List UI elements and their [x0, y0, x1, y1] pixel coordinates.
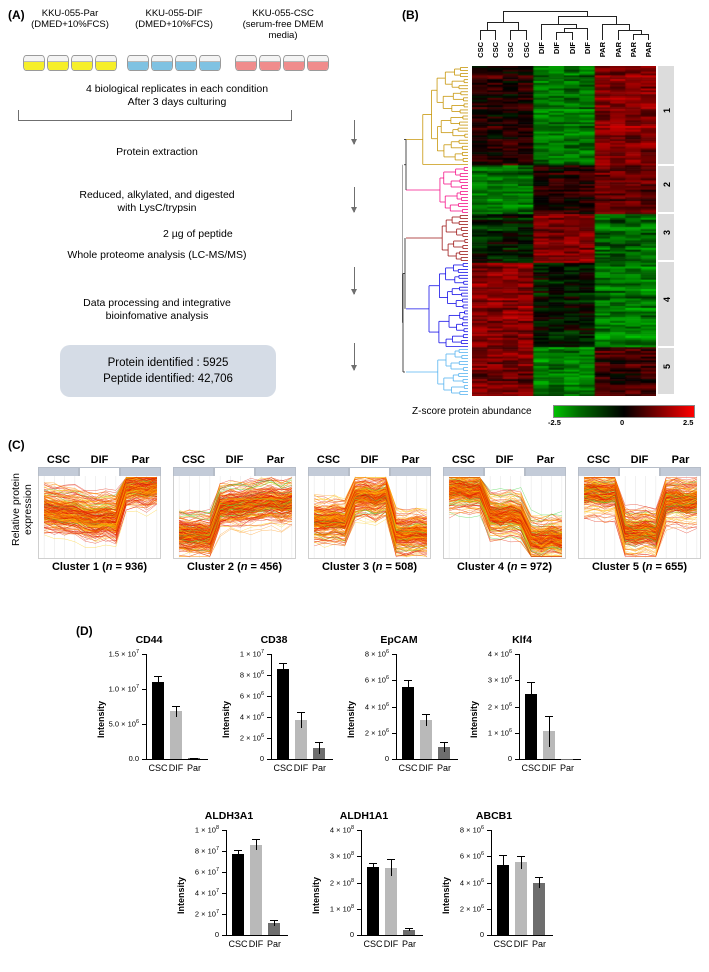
chart-plot-area: Intensity02 × 1064 × 1066 × 1068 × 106CS… — [435, 824, 553, 964]
y-tick — [142, 689, 146, 690]
cluster-bands: 12345 — [658, 66, 680, 396]
error-bar — [319, 742, 320, 755]
y-tick — [515, 759, 519, 760]
chart-ylabel: Intensity — [221, 676, 231, 738]
x-tick-label-par: Par — [434, 763, 454, 773]
panel-c-ylabel-line2: expression — [22, 485, 34, 536]
y-tick — [222, 893, 226, 894]
bar-dif — [515, 862, 527, 935]
cluster-caption-prefix: Cluster 2 ( — [187, 561, 241, 573]
group-label-csc: CSC — [443, 454, 484, 466]
x-axis — [361, 935, 423, 936]
y-tick-label: 2 × 106 — [340, 728, 389, 738]
cluster-number-4: 4 — [662, 297, 672, 302]
y-tick — [142, 759, 146, 760]
group-label-par: Par — [660, 454, 701, 466]
error-bar-cap — [535, 877, 543, 878]
dish-icon — [47, 55, 69, 71]
cluster-group-header: CSCDIFPar — [443, 454, 566, 466]
y-tick-label: 2 × 107 — [170, 909, 219, 919]
y-tick — [392, 733, 396, 734]
arrow-to-extraction — [354, 120, 355, 144]
heatmap-column-label-par-9: PAR — [598, 42, 607, 57]
step-replicates: 4 biological replicates in each conditio… — [12, 83, 342, 109]
y-tick-label: 4 × 106 — [215, 712, 264, 722]
cluster-number-2: 2 — [662, 182, 672, 187]
dendrogram-segment — [572, 32, 573, 40]
y-tick — [487, 935, 491, 936]
y-tick-label: 0 — [435, 930, 484, 939]
condition-par-label: KKU-055-Par (DMED+10%FCS) — [18, 8, 122, 30]
color-scale-bar — [553, 405, 695, 418]
error-bar-cap — [545, 716, 553, 717]
dendrogram-segment — [602, 24, 629, 25]
heatmap-column-label-dif-5: DIF — [537, 42, 546, 54]
y-tick — [222, 914, 226, 915]
error-bar — [549, 716, 550, 746]
column-dendrogram — [398, 6, 709, 42]
cluster-number-1: 1 — [662, 108, 672, 113]
dish-icon — [71, 55, 93, 71]
cluster-group-header: CSCDIFPar — [38, 454, 161, 466]
y-tick-label: 2 × 108 — [305, 878, 354, 888]
dish-icon — [307, 55, 329, 71]
cluster-profile-1: CSCDIFParCluster 1 (n = 936) — [38, 454, 161, 573]
heatmap-column-label-dif-6: DIF — [552, 42, 561, 54]
y-tick-label: 1 × 107 — [215, 649, 264, 659]
cluster-caption-suffix: ) — [278, 561, 282, 573]
group-label-dif: DIF — [484, 454, 525, 466]
error-bar-cap — [422, 714, 430, 715]
step-digestion-line1: Reduced, alkylated, and digested — [12, 189, 302, 202]
bar-chart-cd44: CD44Intensity0.05.0 × 1061.0 × 1071.5 × … — [90, 634, 208, 794]
error-bar-cap — [279, 663, 287, 664]
cluster-caption-suffix: ) — [548, 561, 552, 573]
cluster-caption: Cluster 5 (n = 655) — [578, 561, 701, 573]
cluster-group-header: CSCDIFPar — [578, 454, 701, 466]
dish-icon — [127, 55, 149, 71]
step-data-processing-line2: bioinfomative analysis — [12, 310, 302, 323]
panel-c-letter: (C) — [8, 438, 25, 452]
group-label-csc: CSC — [308, 454, 349, 466]
x-tick-label-dif: DIF — [511, 939, 531, 949]
heatmap-column-label-par-10: PAR — [614, 42, 623, 57]
x-axis — [226, 935, 288, 936]
chart-title: Klf4 — [463, 634, 581, 648]
x-axis — [396, 759, 458, 760]
y-tick-label: 6 × 106 — [435, 851, 484, 861]
step-data-processing-line1: Data processing and integrative — [12, 297, 302, 310]
y-tick-label: 4 × 108 — [305, 825, 354, 835]
error-bar-cap — [499, 855, 507, 856]
dendrogram-segment — [480, 30, 495, 31]
cluster-caption: Cluster 3 (n = 508) — [308, 561, 431, 573]
x-tick-label-csc: CSC — [521, 763, 541, 773]
y-tick — [222, 872, 226, 873]
dendrogram-segment — [556, 32, 571, 33]
group-label-csc: CSC — [38, 454, 79, 466]
x-axis — [491, 935, 553, 936]
dish-icon — [259, 55, 281, 71]
step-peptide-amount: 2 µg of peptide — [163, 228, 233, 240]
cluster-caption-prefix: Cluster 5 ( — [592, 561, 646, 573]
y-tick — [392, 759, 396, 760]
y-tick — [267, 654, 271, 655]
panel-b-heatmap: (B) CSCCSCCSCCSCDIFDIFDIFDIFPARPARPARPAR… — [398, 0, 709, 450]
chart-plot-area: Intensity01 × 1062 × 1063 × 1064 × 106CS… — [463, 648, 581, 788]
condition-par-name: KKU-055-Par — [18, 8, 122, 19]
error-bar — [426, 714, 427, 726]
bar-chart-aldh3a1: ALDH3A1Intensity02 × 1074 × 1076 × 1078 … — [170, 810, 288, 970]
bar-dif — [385, 868, 397, 935]
y-tick — [357, 883, 361, 884]
cluster-profile-3: CSCDIFParCluster 3 (n = 508) — [308, 454, 431, 573]
y-tick-label: 8 × 106 — [435, 825, 484, 835]
x-tick-label-par: Par — [557, 763, 577, 773]
y-tick-label: 6 × 106 — [340, 675, 389, 685]
chart-plot-area: Intensity01 × 1082 × 1083 × 1084 × 108CS… — [305, 824, 423, 964]
chart-plot-area: Intensity02 × 1074 × 1076 × 1078 × 1071 … — [170, 824, 288, 964]
x-tick-label-dif: DIF — [166, 763, 186, 773]
y-tick-label: 1 × 108 — [305, 904, 354, 914]
bar-csc — [277, 669, 289, 759]
arrow-to-digest — [354, 187, 355, 212]
error-bar — [373, 863, 374, 871]
group-label-par: Par — [120, 454, 161, 466]
x-tick-label-dif: DIF — [246, 939, 266, 949]
panel-c-ylabel: Relative protein expression — [10, 456, 40, 564]
condition-dif-name: KKU-055-DIF — [122, 8, 226, 19]
step-protein-extraction: Protein extraction — [12, 146, 302, 159]
heatmap-column-label-csc-1: CSC — [476, 42, 485, 58]
profile-plot-canvas — [443, 476, 566, 559]
group-color-bar — [173, 467, 296, 476]
x-tick-label-dif: DIF — [381, 939, 401, 949]
y-tick — [142, 724, 146, 725]
y-tick — [515, 680, 519, 681]
dendrogram-segment — [518, 22, 519, 30]
heatmap-column-label-par-12: PAR — [644, 42, 653, 57]
y-tick-label: 4 × 107 — [170, 888, 219, 898]
error-bar — [256, 839, 257, 850]
x-axis — [519, 759, 581, 760]
workflow-brace — [18, 110, 292, 121]
legend-tick-min: -2.5 — [548, 418, 561, 427]
bar-csc — [152, 682, 164, 759]
cluster-caption-mid: = — [652, 561, 665, 573]
condition-csc-label: KKU-055-CSC (serum-free DMEM media) — [228, 8, 338, 41]
cluster-profile-4: CSCDIFParCluster 4 (n = 972) — [443, 454, 566, 573]
error-bar — [238, 850, 239, 857]
y-tick-label: 8 × 106 — [215, 670, 264, 680]
x-tick-label-dif: DIF — [416, 763, 436, 773]
y-tick-label: 8 × 106 — [340, 649, 389, 659]
chart-ylabel: Intensity — [176, 852, 186, 914]
chart-title: CD38 — [215, 634, 333, 648]
cluster-number-3: 3 — [662, 230, 672, 235]
x-tick-label-par: Par — [184, 763, 204, 773]
y-tick — [222, 935, 226, 936]
dish-icon — [95, 55, 117, 71]
dendrogram-segment — [641, 30, 642, 34]
error-bar-cap — [154, 676, 162, 677]
arrow-to-dataproc — [354, 343, 355, 370]
condition-par-media: (DMED+10%FCS) — [18, 19, 122, 30]
cluster-caption-mid: = — [382, 561, 395, 573]
error-bar — [301, 712, 302, 728]
bar-csc — [402, 687, 414, 759]
bar-chart-klf4: Klf4Intensity01 × 1062 × 1063 × 1064 × 1… — [463, 634, 581, 794]
profile-plot-canvas — [308, 476, 431, 559]
group-color-bar — [443, 467, 566, 476]
dendrogram-segment — [556, 32, 557, 40]
group-label-csc: CSC — [578, 454, 619, 466]
x-tick-label-csc: CSC — [363, 939, 383, 949]
error-bar-cap — [369, 863, 377, 864]
step-data-processing: Data processing and integrative bioinfom… — [12, 297, 302, 323]
cluster-caption-mid: = — [517, 561, 530, 573]
y-tick-label: 3 × 106 — [463, 675, 512, 685]
profile-plot-canvas — [173, 476, 296, 559]
peptide-identified-count: Peptide identified: 42,706 — [74, 371, 262, 387]
y-tick-label: 1 × 106 — [463, 728, 512, 738]
cluster-band-5 — [658, 348, 674, 394]
error-bar-cap — [405, 928, 413, 929]
y-axis — [519, 654, 520, 759]
error-bar-cap — [387, 859, 395, 860]
y-tick — [392, 707, 396, 708]
y-tick-label: 3 × 108 — [305, 851, 354, 861]
y-axis — [491, 830, 492, 935]
cluster-caption: Cluster 2 (n = 456) — [173, 561, 296, 573]
error-bar-cap — [172, 706, 180, 707]
cluster-caption-suffix: ) — [143, 561, 147, 573]
bar-chart-aldh1a1: ALDH1A1Intensity01 × 1082 × 1083 × 1084 … — [305, 810, 423, 970]
bar-dif — [250, 845, 262, 935]
dendrogram-segment — [541, 24, 576, 25]
legend-tick-max: 2.5 — [683, 418, 693, 427]
dendrogram-segment — [558, 16, 616, 17]
y-tick — [267, 696, 271, 697]
condition-dif-label: KKU-055-DIF (DMED+10%FCS) — [122, 8, 226, 30]
protein-identified-count: Protein identified : 5925 — [74, 355, 262, 371]
dendrogram-segment — [618, 30, 619, 40]
y-tick — [392, 680, 396, 681]
x-tick-label-csc: CSC — [493, 939, 513, 949]
cluster-group-header: CSCDIFPar — [308, 454, 431, 466]
y-tick — [267, 717, 271, 718]
error-bar-cap — [252, 839, 260, 840]
error-bar-cap — [315, 742, 323, 743]
y-tick-label: 5.0 × 106 — [90, 719, 139, 729]
group-color-bar — [38, 467, 161, 476]
error-bar-cap — [527, 682, 535, 683]
culture-dishes-par — [18, 55, 122, 71]
error-bar — [391, 859, 392, 876]
y-tick — [357, 830, 361, 831]
y-tick-label: 2 × 106 — [463, 702, 512, 712]
dish-icon — [235, 55, 257, 71]
y-tick-label: 1 × 108 — [170, 825, 219, 835]
y-tick-label: 6 × 106 — [215, 691, 264, 701]
error-bar — [539, 877, 540, 889]
cluster-caption-prefix: Cluster 1 ( — [52, 561, 106, 573]
y-tick — [392, 654, 396, 655]
y-tick — [487, 856, 491, 857]
y-tick — [487, 830, 491, 831]
cluster-caption-suffix: ) — [683, 561, 687, 573]
y-axis — [396, 654, 397, 759]
error-bar — [283, 663, 284, 675]
dish-icon — [23, 55, 45, 71]
y-axis — [361, 830, 362, 935]
legend-tick-mid: 0 — [620, 418, 624, 427]
error-bar-cap — [234, 850, 242, 851]
dendrogram-segment — [564, 28, 587, 29]
profile-plot-canvas — [38, 476, 161, 559]
step-replicates-line1: 4 biological replicates in each conditio… — [12, 83, 342, 96]
dendrogram-segment — [503, 11, 504, 22]
x-tick-label-csc: CSC — [273, 763, 293, 773]
cluster-caption-value: 936 — [125, 561, 143, 573]
panel-a-workflow: (A) KKU-055-Par (DMED+10%FCS) KKU-055-DI… — [0, 0, 400, 430]
error-bar-cap — [440, 742, 448, 743]
group-label-dif: DIF — [214, 454, 255, 466]
y-tick-label: 1.5 × 107 — [90, 649, 139, 659]
dish-icon — [199, 55, 221, 71]
y-tick — [222, 851, 226, 852]
chart-title: ALDH3A1 — [170, 810, 288, 824]
group-color-bar — [308, 467, 431, 476]
dendrogram-segment — [587, 11, 588, 16]
group-label-dif: DIF — [79, 454, 120, 466]
bar-csc — [367, 867, 379, 935]
y-axis — [146, 654, 147, 759]
dendrogram-segment — [558, 16, 559, 24]
cluster-profile-5: CSCDIFParCluster 5 (n = 655) — [578, 454, 701, 573]
condition-csc-media: (serum-free DMEM media) — [228, 19, 338, 41]
y-tick — [487, 909, 491, 910]
cluster-caption-value: 972 — [530, 561, 548, 573]
cluster-caption-prefix: Cluster 4 ( — [457, 561, 511, 573]
y-tick-label: 0 — [463, 754, 512, 763]
condition-csc-name: KKU-055-CSC — [228, 8, 338, 19]
error-bar — [521, 856, 522, 869]
error-bar-cap — [190, 758, 198, 759]
cluster-caption-suffix: ) — [413, 561, 417, 573]
panel-c-cluster-profiles: (C) Relative protein expression CSCDIFPa… — [0, 436, 709, 596]
panel-d-barcharts: (D) CD44Intensity0.05.0 × 1061.0 × 1071.… — [0, 620, 709, 972]
error-bar — [408, 680, 409, 693]
y-tick — [267, 675, 271, 676]
dish-icon — [175, 55, 197, 71]
cluster-caption-value: 456 — [260, 561, 278, 573]
chart-title: ALDH1A1 — [305, 810, 423, 824]
bar-csc — [232, 854, 244, 935]
dendrogram-segment — [587, 28, 588, 40]
y-tick-label: 6 × 107 — [170, 867, 219, 877]
y-tick — [267, 759, 271, 760]
step-digestion: Reduced, alkylated, and digested with Ly… — [12, 189, 302, 215]
chart-plot-area: Intensity0.05.0 × 1061.0 × 1071.5 × 107C… — [90, 648, 208, 788]
heatmap-column-label-csc-4: CSC — [522, 42, 531, 58]
step-proteome-analysis: Whole proteome analysis (LC-MS/MS) — [12, 249, 302, 262]
y-tick — [357, 856, 361, 857]
y-tick — [357, 935, 361, 936]
chart-plot-area: Intensity02 × 1064 × 1066 × 1068 × 106CS… — [340, 648, 458, 788]
dendrogram-segment — [510, 30, 525, 31]
chart-title: EpCAM — [340, 634, 458, 648]
dendrogram-segment — [602, 24, 603, 40]
bar-chart-cd38: CD38Intensity02 × 1064 × 1066 × 1068 × 1… — [215, 634, 333, 794]
dendrogram-segment — [503, 11, 587, 12]
cluster-band-4 — [658, 262, 674, 346]
profile-plot-canvas — [578, 476, 701, 559]
y-tick-label: 2 × 106 — [435, 904, 484, 914]
culture-dishes-csc — [230, 55, 334, 71]
group-label-par: Par — [390, 454, 431, 466]
error-bar-cap — [297, 712, 305, 713]
error-bar-cap — [404, 680, 412, 681]
heatmap-grid — [472, 66, 656, 396]
culture-dishes-dif — [122, 55, 226, 71]
dish-icon — [151, 55, 173, 71]
dendrogram-segment — [526, 30, 527, 40]
y-tick-label: 8 × 107 — [170, 846, 219, 856]
condition-dif-media: (DMED+10%FCS) — [122, 19, 226, 30]
row-dendrogram — [402, 66, 470, 396]
group-label-dif: DIF — [349, 454, 390, 466]
y-tick-label: 0 — [215, 754, 264, 763]
x-tick-label-csc: CSC — [398, 763, 418, 773]
chart-title: ABCB1 — [435, 810, 553, 824]
group-label-csc: CSC — [173, 454, 214, 466]
y-tick — [142, 654, 146, 655]
dendrogram-segment — [541, 24, 542, 40]
y-tick-label: 1.0 × 107 — [90, 684, 139, 694]
x-tick-label-par: Par — [264, 939, 284, 949]
dendrogram-segment — [487, 22, 518, 23]
legend-title: Z-score protein abundance — [412, 406, 532, 417]
column-labels: CSCCSCCSCCSCDIFDIFDIFDIFPARPARPARPAR — [398, 42, 709, 66]
dendrogram-segment — [633, 34, 648, 35]
x-tick-label-par: Par — [529, 939, 549, 949]
dendrogram-segment — [510, 30, 511, 40]
heatmap-column-label-csc-3: CSC — [506, 42, 515, 58]
chart-title: CD44 — [90, 634, 208, 648]
dendrogram-segment — [495, 30, 496, 40]
error-bar — [444, 742, 445, 753]
dendrogram-segment — [618, 30, 641, 31]
dish-icon — [283, 55, 305, 71]
y-tick-label: 0 — [305, 930, 354, 939]
step-digestion-line2: with LysC/trypsin — [12, 202, 302, 215]
error-bar — [503, 855, 504, 876]
y-tick — [357, 909, 361, 910]
dendrogram-segment — [648, 34, 649, 40]
bar-chart-epcam: EpCAMIntensity02 × 1064 × 1066 × 1068 × … — [340, 634, 458, 794]
cluster-caption: Cluster 1 (n = 936) — [38, 561, 161, 573]
dendrogram-segment — [480, 30, 481, 40]
cluster-caption: Cluster 4 (n = 972) — [443, 561, 566, 573]
results-summary-box: Protein identified : 5925 Peptide identi… — [60, 345, 276, 397]
cluster-caption-value: 655 — [665, 561, 683, 573]
group-color-bar — [578, 467, 701, 476]
error-bar — [158, 676, 159, 687]
y-tick — [487, 883, 491, 884]
y-tick-label: 0 — [340, 754, 389, 763]
x-axis — [271, 759, 333, 760]
